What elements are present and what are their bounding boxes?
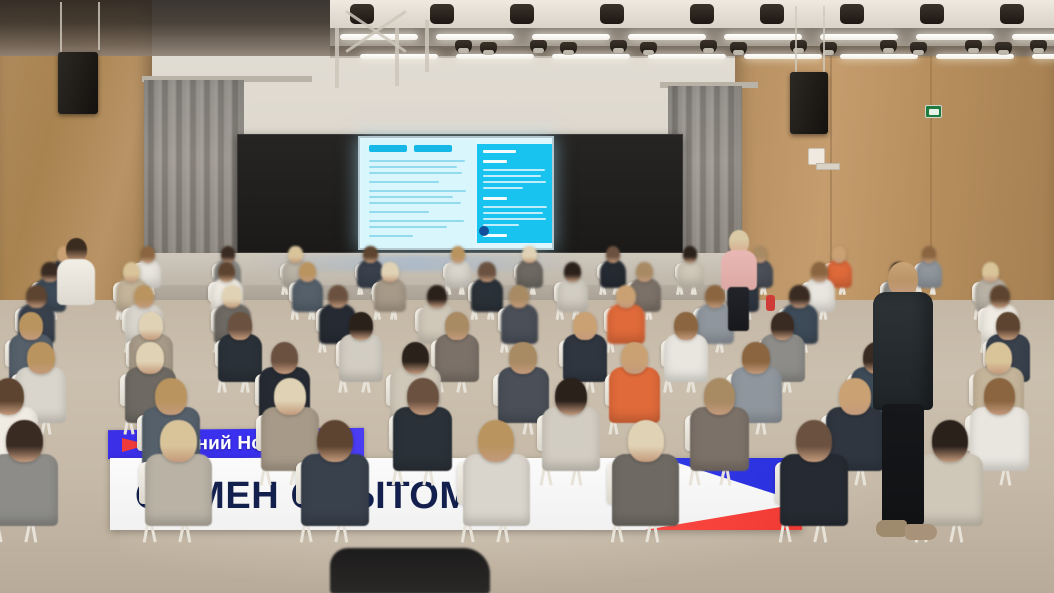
person-torso — [339, 334, 383, 382]
slide-subheading — [483, 197, 507, 200]
stage-spotlight — [600, 4, 624, 24]
person-torso — [301, 454, 368, 527]
person-head — [0, 378, 24, 415]
person-head — [636, 262, 653, 282]
person-torso — [393, 407, 452, 470]
person-head — [985, 342, 1013, 374]
audience-member — [609, 420, 682, 524]
person-legs — [882, 404, 924, 526]
person-head — [123, 262, 140, 282]
par-can-light — [965, 40, 982, 53]
person-head — [888, 262, 918, 296]
broadcast-frame: Нижний Новгород ОБМЕН ОПЫТОМ — [0, 0, 1054, 593]
person-head — [19, 312, 43, 340]
light-lens — [483, 50, 494, 55]
person-head — [274, 378, 306, 415]
person-head — [451, 246, 465, 263]
slide-text-line — [369, 220, 464, 222]
person-head — [606, 246, 620, 263]
person-head — [427, 285, 447, 308]
microphone-icon — [766, 295, 775, 311]
slide-text-line — [369, 235, 413, 237]
person-torso — [374, 278, 406, 312]
par-can-light — [730, 42, 747, 55]
light-lens — [733, 50, 744, 55]
person-head — [628, 420, 664, 462]
tube-light — [916, 34, 994, 40]
slide-text-line — [369, 226, 447, 228]
person-torso — [664, 334, 708, 382]
speaker-wire — [823, 6, 825, 72]
person-head — [704, 378, 736, 415]
slide-text-line — [483, 212, 543, 214]
tube-light — [724, 34, 802, 40]
person-head — [445, 312, 469, 340]
slide-text-line — [369, 211, 429, 213]
person-head — [616, 285, 636, 308]
audience-member — [606, 285, 647, 343]
person-torso — [557, 278, 589, 312]
person-head — [564, 262, 581, 282]
person-shoe — [876, 520, 907, 537]
person-torso — [501, 304, 538, 345]
audience-member — [444, 246, 473, 287]
slide-text-line — [483, 181, 546, 183]
tube-light — [456, 54, 534, 59]
person-head — [789, 285, 809, 308]
person-shoe — [905, 524, 937, 540]
slide-text-line — [483, 224, 519, 226]
person-torso — [612, 454, 679, 527]
audience-member — [662, 312, 710, 380]
person-head — [932, 420, 968, 462]
light-lens — [968, 48, 979, 53]
standing-attendee-left — [54, 238, 98, 322]
person-head — [160, 420, 196, 462]
slide-text-line — [483, 187, 523, 189]
light-lens — [533, 48, 544, 53]
person-head — [139, 312, 163, 340]
person-torso — [0, 454, 58, 527]
light-lens — [703, 48, 714, 53]
person-head — [522, 246, 536, 263]
light-lens — [998, 50, 1009, 55]
person-head — [839, 378, 871, 415]
exit-glyph — [929, 109, 939, 115]
person-head — [26, 285, 46, 308]
slide-text-line — [369, 166, 457, 168]
standing-attendee — [872, 262, 934, 552]
person-torso — [609, 367, 660, 422]
tube-light — [648, 54, 726, 59]
audience-member — [778, 420, 851, 524]
stage-spotlight — [760, 4, 784, 24]
truss-member — [395, 28, 399, 86]
audience-member — [539, 378, 602, 468]
wall-vent — [816, 163, 840, 170]
person-head — [811, 262, 828, 282]
tube-light — [1032, 54, 1054, 59]
projection-screen — [358, 136, 554, 250]
par-can-light — [790, 40, 807, 53]
person-head — [288, 246, 302, 263]
stage-spotlight — [1000, 4, 1024, 24]
stage-spotlight — [510, 4, 534, 24]
person-head — [228, 312, 252, 340]
person-torso — [445, 259, 471, 288]
person-head — [299, 262, 316, 282]
hanging-speaker-right — [790, 72, 828, 134]
speaker-wire — [60, 2, 62, 54]
audience-member — [561, 312, 609, 380]
person-head — [136, 342, 164, 374]
par-can-light — [1030, 40, 1047, 53]
person-torso — [463, 454, 530, 527]
person-torso — [145, 454, 212, 527]
person-torso — [780, 454, 847, 527]
exit-sign-icon — [925, 105, 942, 118]
person-head — [317, 420, 353, 462]
par-can-light — [910, 42, 927, 55]
person-head — [683, 246, 697, 263]
person-head — [134, 285, 154, 308]
person-head — [407, 378, 439, 415]
person-head — [402, 342, 430, 374]
light-lens — [883, 48, 894, 53]
truss-member — [425, 20, 429, 72]
stage-spotlight — [690, 4, 714, 24]
person-head — [922, 246, 936, 263]
slide-text-line — [369, 202, 461, 204]
slide-text-line — [369, 190, 466, 192]
par-can-light — [880, 40, 897, 53]
person-head — [555, 378, 587, 415]
tube-light — [840, 54, 918, 59]
person-torso — [600, 259, 626, 288]
par-can-light — [455, 40, 472, 53]
person-head — [990, 285, 1010, 308]
person-head — [6, 420, 42, 462]
person-head — [984, 378, 1016, 415]
person-torso — [721, 250, 757, 290]
audience-member — [555, 262, 589, 311]
person-torso — [57, 259, 95, 305]
audience-member — [338, 312, 386, 380]
light-lens — [613, 48, 624, 53]
person-head — [222, 285, 242, 308]
person-torso — [677, 259, 703, 288]
hanging-speaker-left — [58, 52, 98, 114]
person-head — [742, 342, 770, 374]
person-head — [771, 312, 795, 340]
person-head — [363, 246, 377, 263]
standing-presenter — [716, 230, 760, 330]
person-head — [796, 420, 832, 462]
truss-member — [335, 28, 339, 88]
person-head — [328, 285, 348, 308]
person-head — [509, 285, 529, 308]
person-legs — [728, 287, 749, 331]
person-torso — [471, 278, 503, 312]
person-torso — [607, 304, 644, 345]
light-lens — [1033, 48, 1044, 53]
person-head — [218, 262, 235, 282]
person-head — [674, 312, 698, 340]
slide-text-line — [369, 172, 462, 174]
light-lens — [563, 50, 574, 55]
slide-text-line — [369, 196, 453, 198]
audience-member — [391, 378, 454, 468]
light-lens — [458, 48, 469, 53]
slide-subheading — [483, 160, 507, 163]
person-torso — [873, 292, 933, 410]
par-can-light — [995, 42, 1012, 55]
slide-text-line — [369, 160, 465, 162]
audience-member — [499, 285, 540, 343]
stage-spotlight — [840, 4, 864, 24]
slide-text-line — [483, 175, 541, 177]
slide-text-line — [483, 218, 546, 220]
audience-member — [688, 378, 751, 468]
stage-spotlight — [920, 4, 944, 24]
tube-light — [436, 34, 514, 40]
par-can-light — [530, 40, 547, 53]
audience-member — [299, 420, 372, 524]
person-head — [509, 342, 537, 374]
light-lens — [643, 50, 654, 55]
tube-light — [744, 54, 822, 59]
foreground-bag — [330, 548, 490, 593]
stage-spotlight — [430, 4, 454, 24]
person-head — [155, 378, 187, 415]
audience-member — [460, 420, 533, 524]
person-head — [271, 342, 299, 374]
tube-light — [628, 34, 706, 40]
par-can-light — [700, 40, 717, 53]
slide-heading — [483, 150, 516, 153]
person-head — [27, 342, 55, 374]
person-head — [573, 312, 597, 340]
person-head — [621, 342, 649, 374]
slide-text-line — [483, 169, 545, 171]
person-torso — [690, 407, 749, 470]
slide-text-line — [483, 206, 547, 208]
light-lens — [913, 50, 924, 55]
slide-badge-1 — [369, 145, 407, 152]
person-head — [141, 246, 155, 263]
slide-logo-dot — [479, 226, 489, 236]
slide-left-column — [362, 140, 475, 248]
par-can-light — [610, 40, 627, 53]
slide-badge-2 — [414, 145, 452, 152]
slide-text-line — [369, 181, 439, 183]
speaker-wire — [795, 6, 797, 72]
audience-member — [0, 420, 61, 524]
person-head — [996, 312, 1020, 340]
person-head — [221, 246, 235, 263]
audience-member — [515, 246, 544, 287]
person-torso — [563, 334, 607, 382]
audience-member — [676, 246, 705, 287]
audience-member — [373, 262, 407, 311]
person-torso — [516, 259, 542, 288]
person-head — [478, 420, 514, 462]
speaker-wire — [98, 2, 100, 50]
person-head — [381, 262, 398, 282]
person-head — [478, 262, 495, 282]
audience-member — [599, 246, 628, 287]
person-head — [349, 312, 373, 340]
par-can-light — [560, 42, 577, 55]
audience-member — [607, 342, 662, 420]
person-head — [982, 262, 999, 282]
par-can-light — [640, 42, 657, 55]
audience-member — [142, 420, 215, 524]
person-torso — [542, 407, 601, 470]
par-can-light — [480, 42, 497, 55]
person-head — [832, 246, 846, 263]
